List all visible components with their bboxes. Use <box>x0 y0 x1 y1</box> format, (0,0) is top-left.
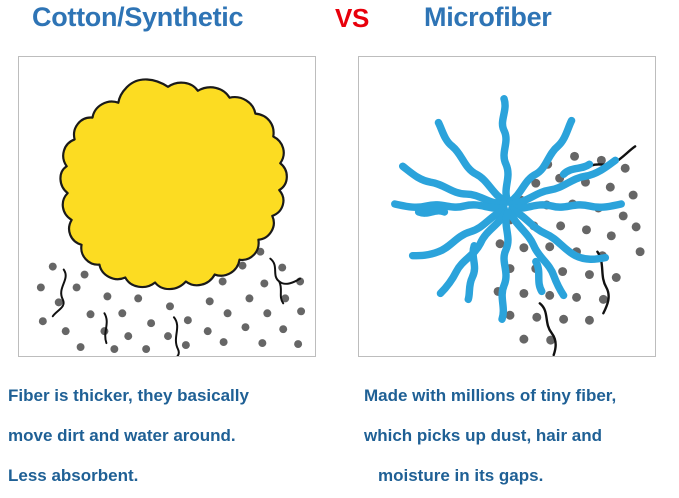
right-panel-title: Microfiber <box>424 0 552 34</box>
right-caption-line-2: which picks up dust, hair and <box>364 416 616 456</box>
left-panel-title: Cotton/Synthetic <box>32 0 243 34</box>
left-caption-line-1: Fiber is thicker, they basically <box>8 376 249 416</box>
versus-label: VS <box>335 1 369 35</box>
right-caption-line-1: Made with millions of tiny fiber, <box>364 376 616 416</box>
left-caption: Fiber is thicker, they basically move di… <box>8 376 249 496</box>
microfiber-strands-group <box>395 99 621 320</box>
right-caption: Made with millions of tiny fiber, which … <box>364 376 616 496</box>
header: Cotton/Synthetic VS Microfiber <box>0 0 679 50</box>
microfiber-panel <box>358 56 656 357</box>
cotton-synthetic-diagram <box>19 57 315 356</box>
microfiber-diagram <box>359 57 655 356</box>
left-caption-line-2: move dirt and water around. <box>8 416 249 456</box>
cotton-synthetic-panel <box>18 56 316 357</box>
thick-fiber-blob <box>60 79 286 289</box>
right-caption-line-3: moisture in its gaps. <box>364 456 616 496</box>
left-caption-line-3: Less absorbent. <box>8 456 249 496</box>
